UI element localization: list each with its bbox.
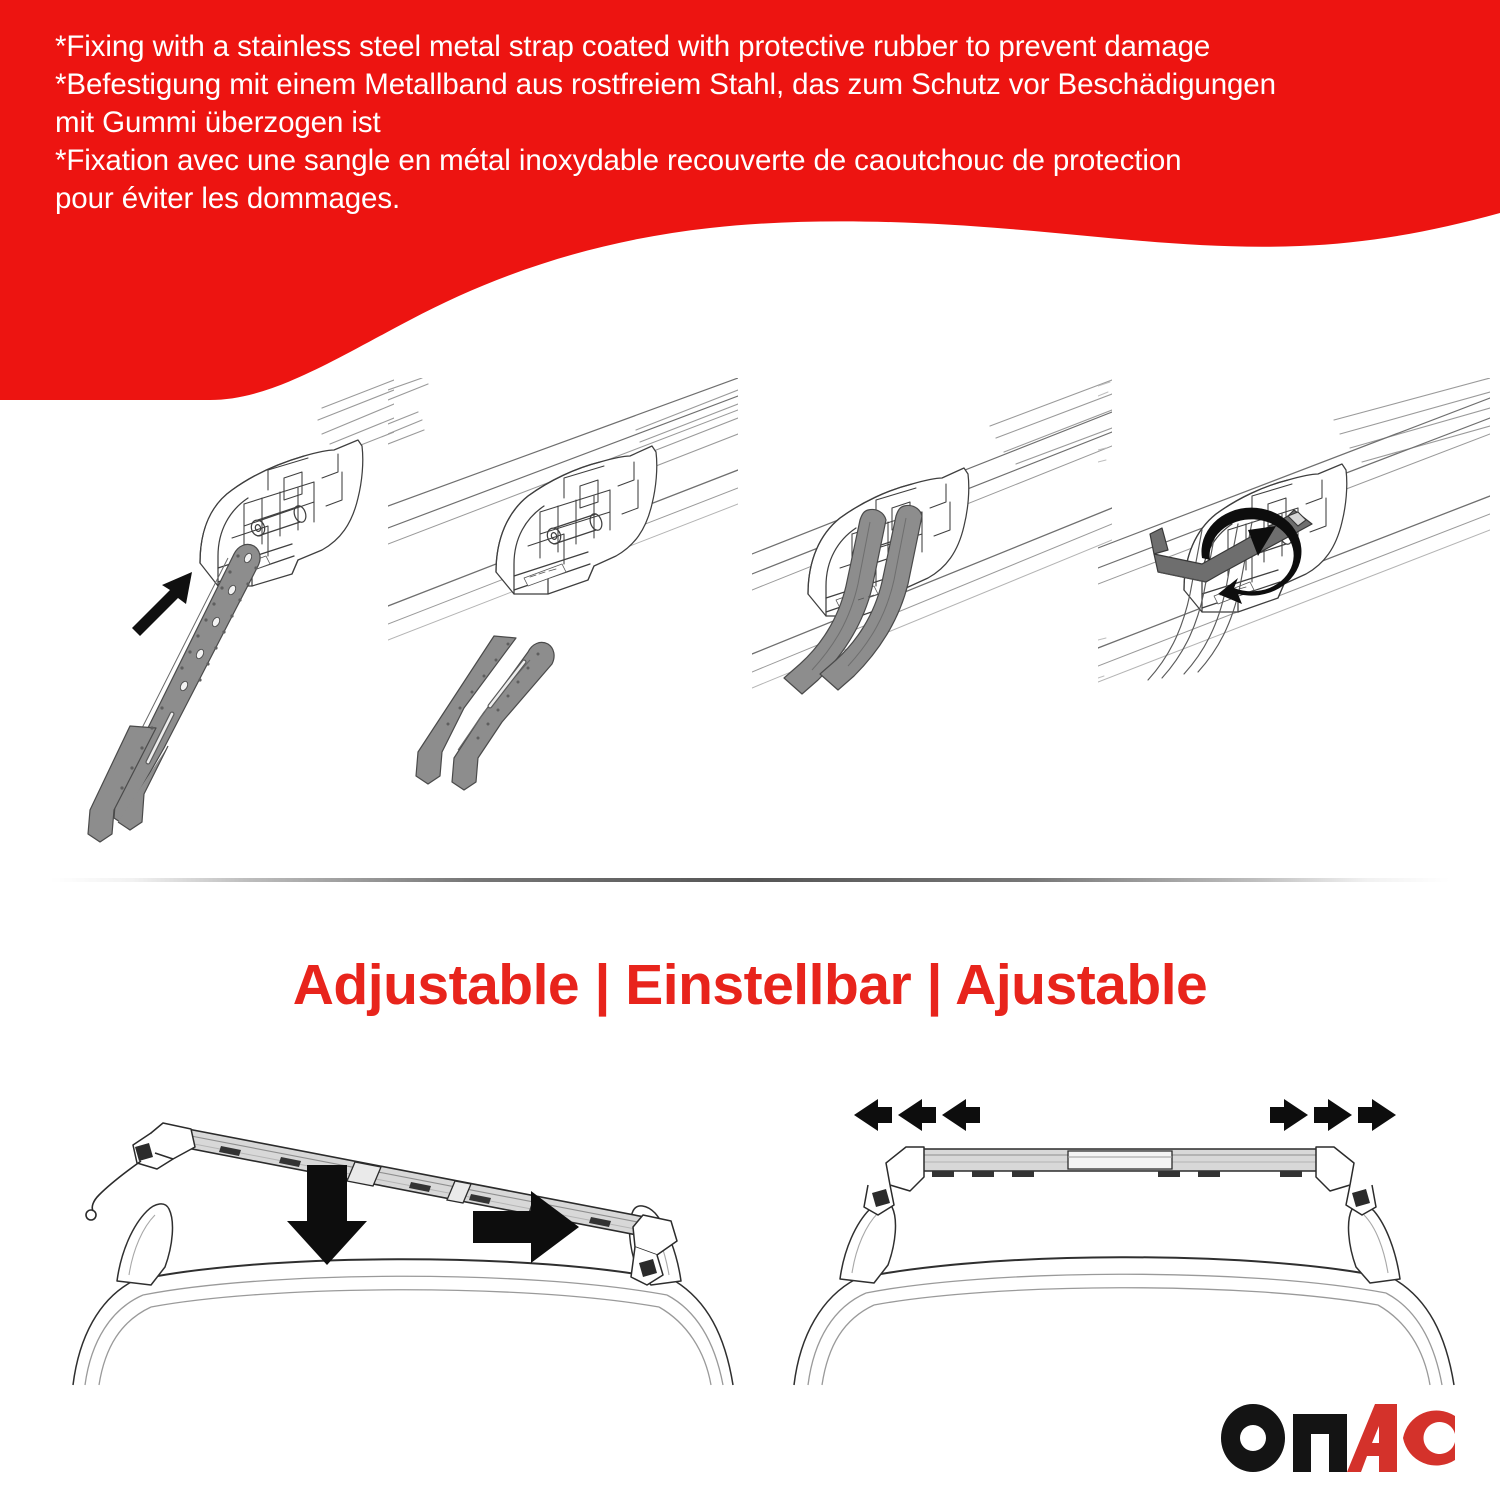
logo-letter-m: [1293, 1414, 1347, 1472]
crossbar-assembly: [86, 1123, 677, 1285]
crossbar-foot-right: [1316, 1147, 1376, 1215]
crossbar-assembly: [864, 1147, 1376, 1215]
step-4-tighten-with-allen-key: [1098, 378, 1490, 858]
triple-left-arrow-icon: [854, 1099, 980, 1131]
red-banner: *Fixing with a stainless steel metal str…: [0, 0, 1500, 400]
loose-strap-wire: [86, 1161, 141, 1220]
infographic-page: *Fixing with a stainless steel metal str…: [0, 0, 1500, 1500]
triple-right-arrow-icon: [1270, 1099, 1396, 1131]
adjustable-headline: Adjustable | Einstellbar | Ajustable: [0, 952, 1500, 1018]
insert-arrow-icon: [132, 572, 192, 636]
step-2-foot-seated-on-rail: [388, 378, 738, 858]
step-3-strap-wrapped-around-rail: [752, 378, 1112, 858]
crossbar: [990, 380, 1112, 464]
logo-letter-c: [1403, 1410, 1455, 1465]
section-divider: [50, 878, 1450, 882]
banner-text: *Fixing with a stainless steel metal str…: [55, 28, 1450, 218]
adjustable-illustrations: [0, 1085, 1500, 1425]
crossbar-foot-left: [864, 1147, 924, 1215]
bottom-left-place-crossbar: [55, 1085, 755, 1425]
crossbar: [1334, 378, 1490, 462]
assembly-steps: [0, 378, 1500, 858]
omac-logo: [1215, 1398, 1455, 1478]
logo-letter-o: [1221, 1404, 1285, 1472]
car-roof: [794, 1257, 1454, 1385]
bottom-right-adjust-width: [780, 1085, 1470, 1425]
roof-rails: [840, 1202, 1400, 1283]
logo-letter-a: [1347, 1404, 1397, 1472]
stainless-steel-strap: [416, 636, 554, 790]
step-1-insert-metal-strap: [22, 378, 394, 858]
